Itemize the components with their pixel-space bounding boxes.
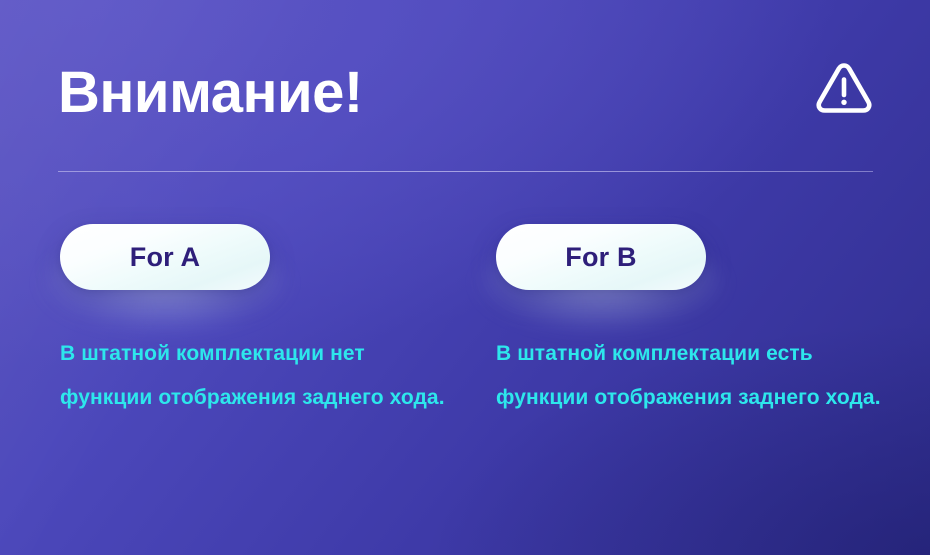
pill-label-for-a: For A [130, 244, 201, 271]
column-for-a: For A В штатной комплектации нет функции… [60, 224, 480, 420]
warning-slide: Внимание! For A В штатной комплектации [0, 0, 930, 555]
description-for-b: В штатной комплектации есть функции отоб… [496, 290, 896, 420]
pill-label-for-b: For B [565, 244, 637, 271]
pill-wrapper-for-a: For A [60, 224, 270, 290]
comparison-columns: For A В штатной комплектации нет функции… [0, 0, 930, 555]
pill-wrapper-for-b: For B [496, 224, 706, 290]
column-for-b: For B В штатной комплектации есть функци… [496, 224, 916, 420]
pill-button-for-a[interactable]: For A [60, 224, 270, 290]
description-for-a: В штатной комплектации нет функции отобр… [60, 290, 460, 420]
pill-button-for-b[interactable]: For B [496, 224, 706, 290]
